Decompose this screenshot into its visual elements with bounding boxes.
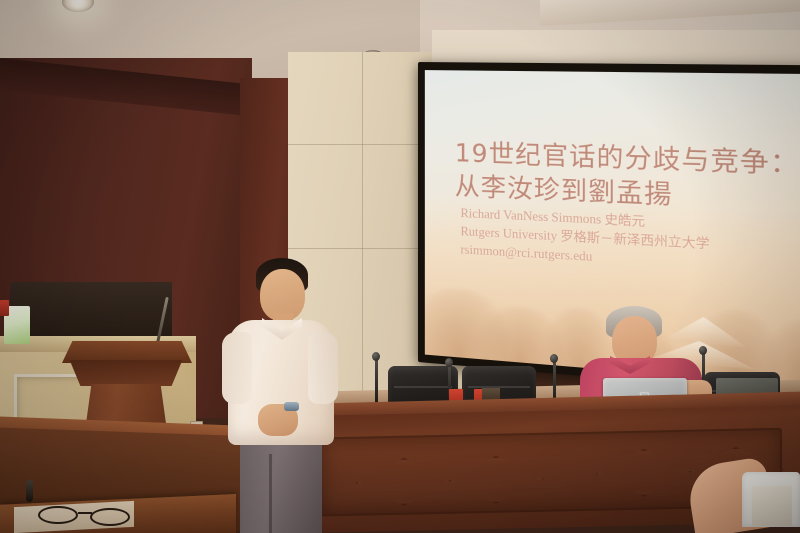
microphone-head-icon (445, 358, 453, 367)
trousers (240, 440, 322, 533)
standing-speaker (218, 258, 343, 533)
lens-right (90, 508, 130, 526)
panel-seam (362, 52, 363, 392)
wall-monitor (10, 282, 172, 340)
red-object (0, 300, 9, 316)
wristwatch (284, 402, 299, 411)
table-microphone (375, 358, 378, 404)
podium-neck (66, 360, 186, 386)
chair-seam (394, 386, 453, 388)
podium-top (62, 341, 192, 363)
microphone-head-icon (372, 352, 380, 361)
sleeve-left (222, 332, 252, 404)
foreground-microphone (26, 480, 33, 502)
glasses-bridge (78, 512, 92, 514)
phone-screen[interactable] (752, 486, 792, 526)
trouser-seam (269, 454, 272, 533)
microphone-head-icon (550, 354, 558, 363)
lecture-hall-photo: 19世纪官话的分歧与竞争： 从李汝珍到劉孟揚 Richard VanNess S… (0, 0, 800, 533)
lens-left (38, 506, 78, 524)
sleeve-right (308, 332, 338, 404)
eyeglasses (38, 506, 134, 526)
